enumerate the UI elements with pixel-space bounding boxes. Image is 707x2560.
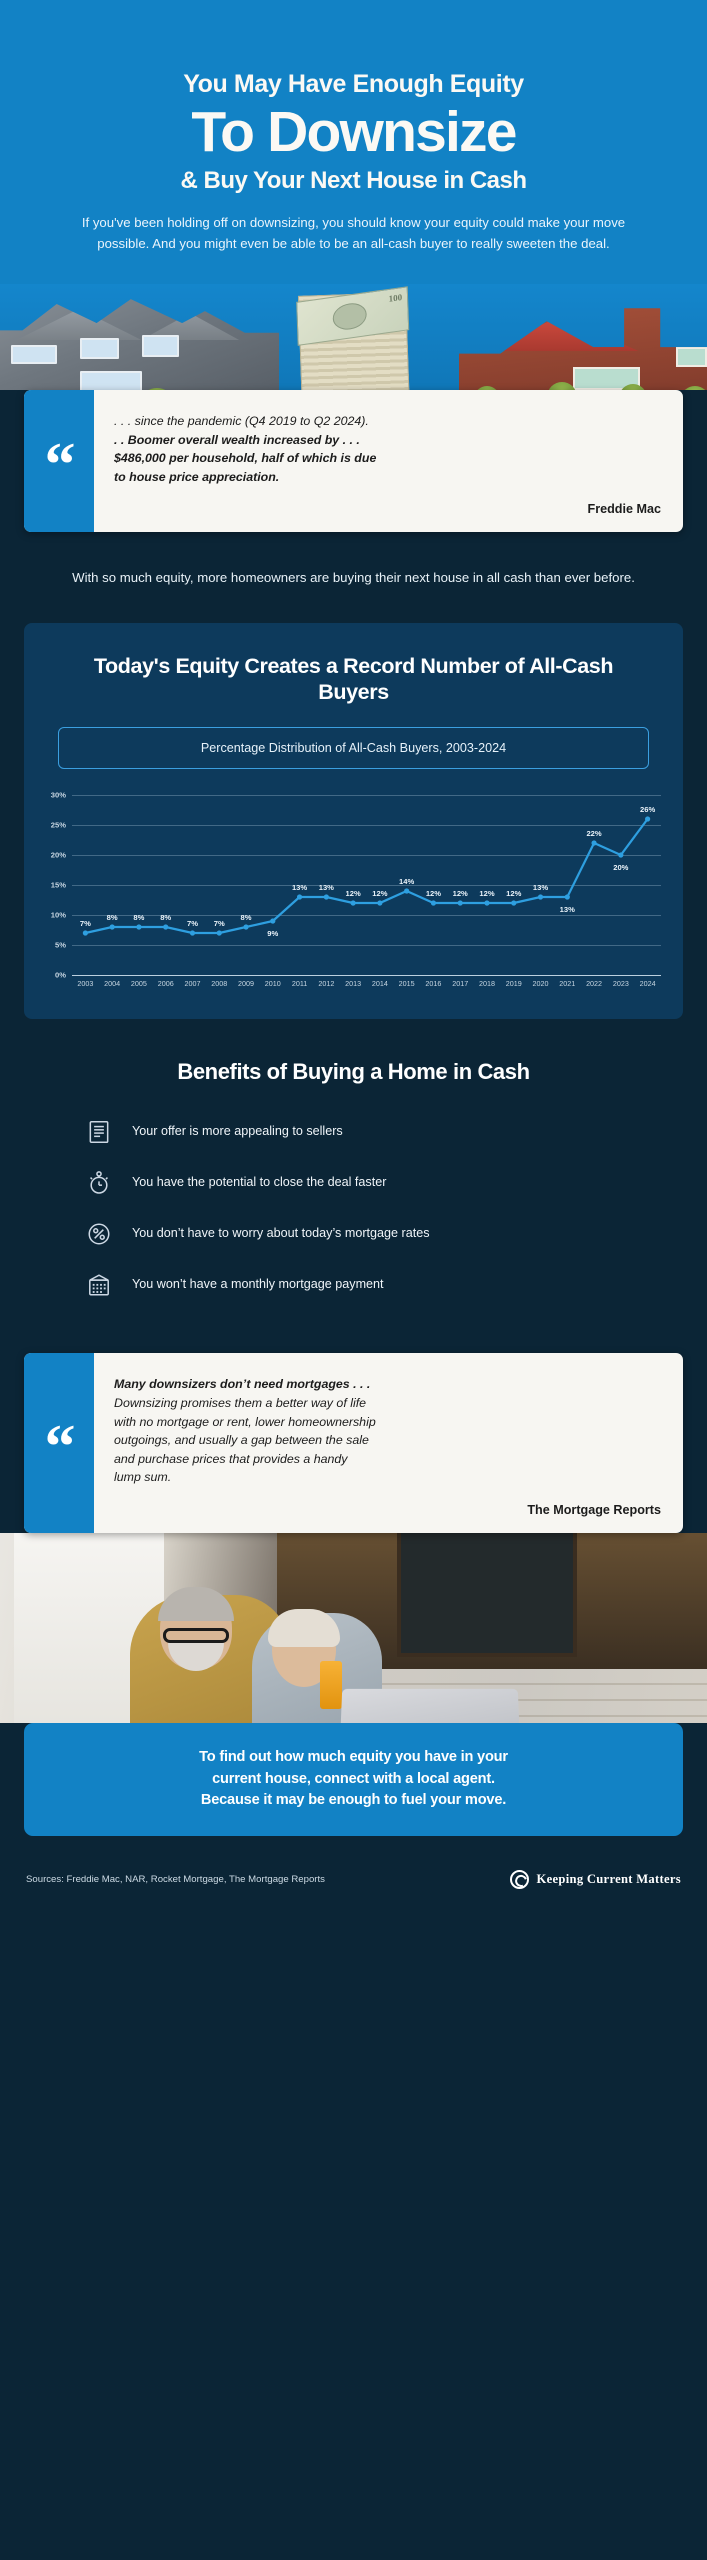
quote-1-wrapper: “ . . . since the pandemic (Q4 2019 to Q… [0,390,707,532]
benefit-item-label: You don’t have to worry about today’s mo… [132,1225,430,1243]
chart-x-tick-label: 2010 [265,979,281,988]
chart-data-label: 13% [292,883,307,892]
chart-x-tick-label: 2011 [292,979,307,988]
chart-y-tick-label: 25% [42,821,66,830]
chart-data-label: 8% [133,913,144,922]
chart-data-label: 12% [426,889,441,898]
benefit-item-label: Your offer is more appealing to sellers [132,1123,343,1141]
quote-2-wrapper: “ Many downsizers don’t need mortgages .… [0,1353,707,1533]
quote-line: Downsizing promises them a better way of… [114,1394,661,1413]
chart-y-tick-label: 30% [42,791,66,800]
chart-x-tick-label: 2014 [372,979,388,988]
calendar-icon [82,1268,116,1302]
quote-card-freddie-mac: “ . . . since the pandemic (Q4 2019 to Q… [24,390,683,532]
chart-x-axis-line [72,975,661,976]
chart-subtitle-box: Percentage Distribution of All-Cash Buye… [58,727,649,769]
chart-data-label: 13% [560,905,575,914]
document-icon [82,1115,116,1149]
benefit-item-2: You don’t have to worry about today’s mo… [82,1217,625,1251]
quote-attribution: The Mortgage Reports [114,1503,661,1517]
man-hair [158,1587,234,1621]
quote-body: Many downsizers don’t need mortgages . .… [94,1353,683,1533]
cta-line: Because it may be enough to fuel your mo… [54,1790,653,1812]
chart-x-tick-label: 2023 [613,979,629,988]
window-icon [676,347,707,366]
chart-data-label: 8% [160,913,171,922]
quote-accent-bar: “ [24,390,94,532]
chart-data-label: 8% [107,913,118,922]
brand-name: Keeping Current Matters [537,1872,681,1887]
orange-juice-glass [320,1661,342,1709]
quote-line: . . Boomer overall wealth increased by .… [114,431,661,450]
quote-attribution: Freddie Mac [114,502,661,516]
bill-portrait [332,301,367,332]
chart-data-label: 12% [453,889,468,898]
chart-x-axis: 2003200420052006200720082009201020112012… [72,979,661,993]
quote-mark-icon: “ [45,1428,74,1466]
chart-x-tick-label: 2021 [559,979,575,988]
gray-house-roof [17,309,239,340]
chart-x-tick-label: 2008 [211,979,227,988]
benefit-item-1: You have the potential to close the deal… [82,1166,625,1200]
chart-x-tick-label: 2015 [399,979,415,988]
chart-x-tick-label: 2016 [425,979,441,988]
chart-x-tick-label: 2020 [533,979,549,988]
chart-data-label: 12% [479,889,494,898]
cta-line: To find out how much equity you have in … [54,1747,653,1769]
bill-denomination: 100 [388,292,402,304]
window-icon [80,338,120,360]
chart-data-label: 12% [346,889,361,898]
hero-body-text: If you've been holding off on downsizing… [48,213,659,254]
benefit-item-3: You won’t have a monthly mortgage paymen… [82,1268,625,1302]
benefits-heading: Benefits of Buying a Home in Cash [24,1059,683,1085]
sources-text: Sources: Freddie Mac, NAR, Rocket Mortga… [26,1874,325,1885]
hundred-dollar-bill: 100 [296,286,409,346]
chart-x-tick-label: 2009 [238,979,254,988]
chart-data-label: 26% [640,805,655,814]
chart-x-tick-label: 2004 [104,979,120,988]
chart-data-label: 13% [533,883,548,892]
cta-line: current house, connect with a local agen… [54,1769,653,1791]
window-icon [11,345,57,364]
chart-x-tick-label: 2013 [345,979,361,988]
chart-data-label: 20% [613,863,628,872]
kitchen-open-shelving [397,1527,577,1657]
chart-data-label: 7% [187,919,198,928]
spiral-logo-icon [510,1870,529,1889]
quote-body: . . . since the pandemic (Q4 2019 to Q2 … [94,390,683,532]
quote-line: . . . since the pandemic (Q4 2019 to Q2 … [114,412,661,431]
chart-x-tick-label: 2006 [158,979,174,988]
chart-data-label: 14% [399,877,414,886]
chart-x-tick-label: 2017 [452,979,468,988]
chart-y-tick-label: 10% [42,911,66,920]
chart-x-tick-label: 2024 [640,979,656,988]
quote-line: to house price appreciation. [114,468,661,487]
chart-data-label: 7% [80,919,91,928]
benefit-item-label: You won’t have a monthly mortgage paymen… [132,1276,384,1294]
quote-line: with no mortgage or rent, lower homeowne… [114,1413,661,1432]
chart-x-tick-label: 2019 [506,979,522,988]
hero-section: You May Have Enough Equity To Downsize &… [0,0,707,284]
chart-panel: Today's Equity Creates a Record Number o… [24,623,683,1019]
quote-line: $486,000 per household, half of which is… [114,449,661,468]
quote-mark-icon: “ [45,446,74,484]
hero-kicker: You May Have Enough Equity [48,70,659,99]
chart-data-label: 13% [319,883,334,892]
footer: Sources: Freddie Mac, NAR, Rocket Mortga… [0,1836,707,1911]
chart-line-series [72,795,661,975]
chart-y-tick-label: 15% [42,881,66,890]
chart-data-label: 7% [214,919,225,928]
chart-x-tick-label: 2003 [77,979,93,988]
brand-logo: Keeping Current Matters [510,1870,681,1889]
chart-x-tick-label: 2005 [131,979,147,988]
chart-title: Today's Equity Creates a Record Number o… [42,653,665,705]
benefits-list: Your offer is more appealing to sellersY… [24,1115,683,1302]
quote-accent-bar: “ [24,1353,94,1533]
chart-x-tick-label: 2007 [184,979,200,988]
lead-paragraph: With so much equity, more homeowners are… [0,532,707,622]
chart-x-tick-label: 2018 [479,979,495,988]
chart-data-label: 8% [241,913,252,922]
chart-plot-area: 5%10%15%20%25%30%0%7%8%8%8%7%7%8%9%13%13… [42,795,665,975]
window-icon [142,335,179,357]
quote-line: and purchase prices that provides a hand… [114,1450,661,1469]
hero-subheadline: & Buy Your Next House in Cash [48,167,659,195]
chart-y-tick-label: 5% [42,941,66,950]
chart-subtitle: Percentage Distribution of All-Cash Buye… [201,741,506,755]
chart-data-label: 12% [506,889,521,898]
chart-data-label: 9% [267,929,278,938]
benefit-item-label: You have the potential to close the deal… [132,1174,386,1192]
chart-y-tick-label: 0% [42,971,66,980]
chart-x-tick-label: 2022 [586,979,602,988]
stopwatch-icon [82,1166,116,1200]
benefits-section: Benefits of Buying a Home in Cash Your o… [0,1019,707,1335]
infographic-page: You May Have Enough Equity To Downsize &… [0,0,707,1911]
hero-headline: To Downsize [48,103,659,162]
quote-line: Many downsizers don’t need mortgages . .… [114,1375,661,1394]
quote-card-mortgage-reports: “ Many downsizers don’t need mortgages .… [24,1353,683,1533]
chart-y-tick-label: 20% [42,851,66,860]
benefit-item-0: Your offer is more appealing to sellers [82,1115,625,1149]
cta-banner[interactable]: To find out how much equity you have in … [24,1723,683,1836]
chart-data-label: 22% [586,829,601,838]
cta-zone: To find out how much equity you have in … [0,1723,707,1836]
quote-line: lump sum. [114,1468,661,1487]
percent-circle-icon [82,1217,116,1251]
chart-x-tick-label: 2012 [318,979,334,988]
eyeglasses-icon [163,1628,229,1643]
chart-data-label: 12% [372,889,387,898]
quote-line: outgoings, and usually a gap between the… [114,1431,661,1450]
